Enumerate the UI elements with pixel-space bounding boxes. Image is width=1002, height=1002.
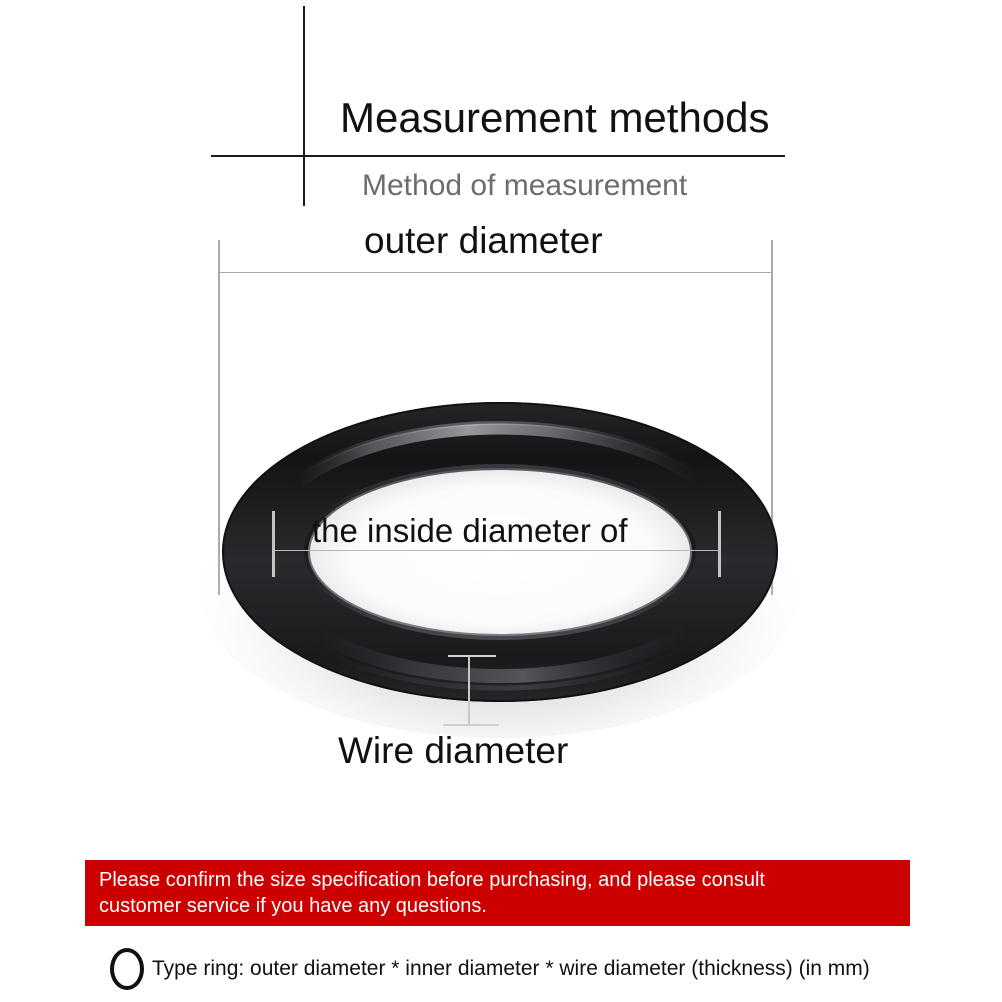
- page-subtitle: Method of measurement: [362, 168, 687, 204]
- inside-diameter-tick-right: [718, 511, 721, 577]
- header-horizontal-rule: [211, 155, 785, 157]
- footer-spec-line: Type ring: outer diameter * inner diamet…: [110, 948, 870, 990]
- o-ring-image: [190, 380, 810, 740]
- footer-spec-text: Type ring: outer diameter * inner diamet…: [152, 956, 870, 982]
- outer-diameter-dimension-line: [218, 272, 772, 273]
- outer-diameter-label: outer diameter: [364, 219, 603, 263]
- wire-diameter-label: Wire diameter: [338, 729, 568, 773]
- wire-diameter-dimension-line: [468, 656, 470, 726]
- o-ring-circle-icon: [110, 948, 144, 990]
- wire-diameter-cap-bottom: [443, 724, 499, 726]
- purchase-notice-banner: Please confirm the size specification be…: [85, 860, 910, 926]
- inside-diameter-tick-left: [272, 511, 275, 577]
- wire-diameter-cap-top: [448, 655, 496, 657]
- purchase-notice-text: Please confirm the size specification be…: [99, 867, 910, 919]
- page-title: Measurement methods: [340, 94, 770, 142]
- inside-diameter-label: the inside diameter of: [312, 511, 628, 551]
- header-vertical-rule: [303, 6, 305, 206]
- o-ring-illustration: [190, 380, 810, 740]
- measurement-methods-infographic: Measurement methods Method of measuremen…: [0, 0, 1002, 1002]
